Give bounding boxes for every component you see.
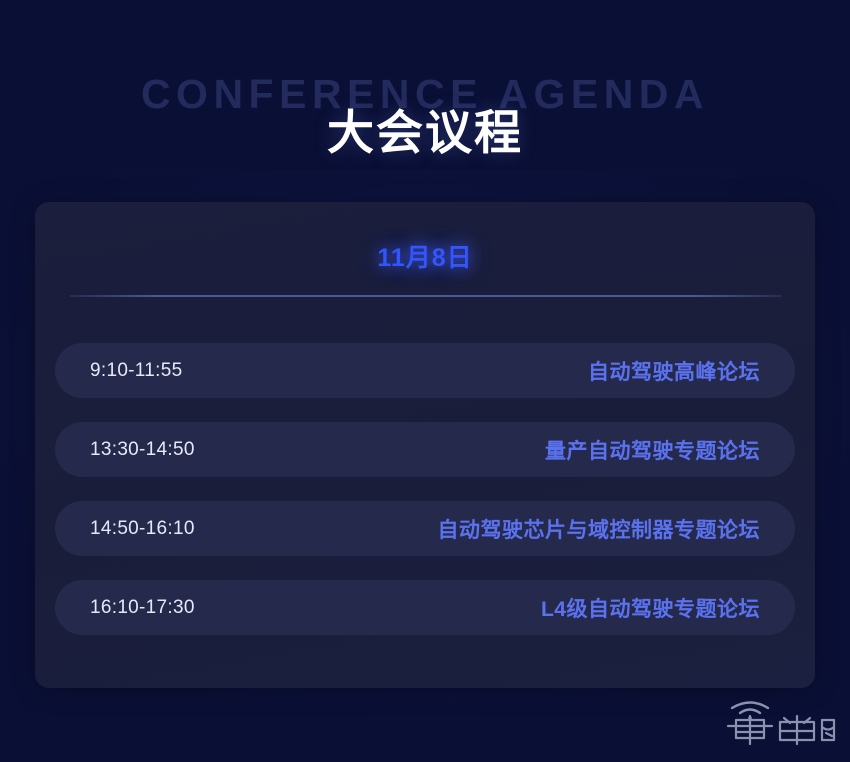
brand-logo — [718, 692, 836, 748]
session-time: 9:10-11:55 — [90, 360, 182, 382]
agenda-card: 11月8日 9:10-11:55 自动驾驶高峰论坛 13:30-14:50 量产… — [35, 202, 815, 688]
session-title: 自动驾驶高峰论坛 — [588, 356, 760, 386]
session-time: 13:30-14:50 — [90, 439, 195, 461]
session-row[interactable]: 14:50-16:10 自动驾驶芯片与域控制器专题论坛 — [55, 501, 795, 556]
page-header: CONFERENCE AGENDA 大会议程 — [0, 0, 850, 190]
session-row[interactable]: 16:10-17:30 L4级自动驾驶专题论坛 — [55, 580, 795, 635]
session-title: 量产自动驾驶专题论坛 — [545, 435, 760, 465]
session-title: L4级自动驾驶专题论坛 — [541, 593, 760, 623]
session-row[interactable]: 13:30-14:50 量产自动驾驶专题论坛 — [55, 422, 795, 477]
page-title: 大会议程 — [0, 108, 850, 157]
date-divider — [70, 295, 782, 297]
session-row[interactable]: 9:10-11:55 自动驾驶高峰论坛 — [55, 343, 795, 398]
session-time: 14:50-16:10 — [90, 518, 195, 540]
signal-arc-icon — [718, 692, 836, 748]
session-title: 自动驾驶芯片与域控制器专题论坛 — [438, 514, 761, 544]
agenda-date-heading: 11月8日 — [35, 246, 815, 271]
session-list: 9:10-11:55 自动驾驶高峰论坛 13:30-14:50 量产自动驾驶专题… — [55, 343, 795, 635]
session-time: 16:10-17:30 — [90, 597, 195, 619]
